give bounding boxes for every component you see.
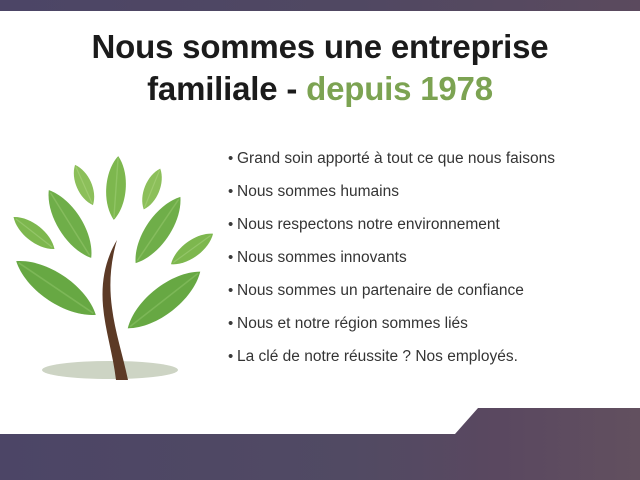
bullet-marker-icon: • (228, 247, 237, 269)
bullet-marker-icon: • (228, 280, 237, 302)
bullet-marker-icon: • (228, 214, 237, 236)
list-item-label: Nous sommes un partenaire de confiance (237, 280, 524, 302)
headline-line-2-main: familiale - (147, 70, 306, 107)
list-item-label: Nous sommes innovants (237, 247, 407, 269)
bullet-marker-icon: • (228, 181, 237, 203)
list-item: • La clé de notre réussite ? Nos employé… (228, 346, 628, 379)
headline-line-2: familiale - depuis 1978 (0, 68, 640, 110)
list-item: • Nous et notre région sommes liés (228, 313, 628, 346)
tree-illustration (12, 148, 217, 388)
top-accent-bar (0, 0, 640, 11)
footer-bar-path (0, 408, 640, 480)
list-item: • Nous respectons notre environnement (228, 214, 628, 247)
value-bullet-list: • Grand soin apporté à tout ce que nous … (228, 148, 628, 379)
list-item: • Nous sommes humains (228, 181, 628, 214)
headline-accent-year: depuis 1978 (306, 70, 493, 107)
page-title: Nous sommes une entreprise familiale - d… (0, 26, 640, 110)
slide-canvas: Nous sommes une entreprise familiale - d… (0, 0, 640, 480)
footer-shape (0, 400, 640, 480)
list-item-label: Nous sommes humains (237, 181, 399, 203)
list-item-label: Nous et notre région sommes liés (237, 313, 468, 335)
bullet-marker-icon: • (228, 346, 237, 368)
bullet-marker-icon: • (228, 313, 237, 335)
footer-bar: TABOR tabor-automobiles.fr (0, 400, 640, 480)
list-item: • Grand soin apporté à tout ce que nous … (228, 148, 628, 181)
list-item: • Nous sommes innovants (228, 247, 628, 280)
list-item-label: Grand soin apporté à tout ce que nous fa… (237, 148, 555, 170)
tree-icon (12, 148, 217, 388)
tree-shadow (42, 361, 178, 379)
list-item-label: La clé de notre réussite ? Nos employés. (237, 346, 518, 368)
list-item-label: Nous respectons notre environnement (237, 214, 500, 236)
tree-trunk (103, 240, 128, 380)
bullet-marker-icon: • (228, 148, 237, 170)
headline-line-1: Nous sommes une entreprise (0, 26, 640, 68)
list-item: • Nous sommes un partenaire de confiance (228, 280, 628, 313)
